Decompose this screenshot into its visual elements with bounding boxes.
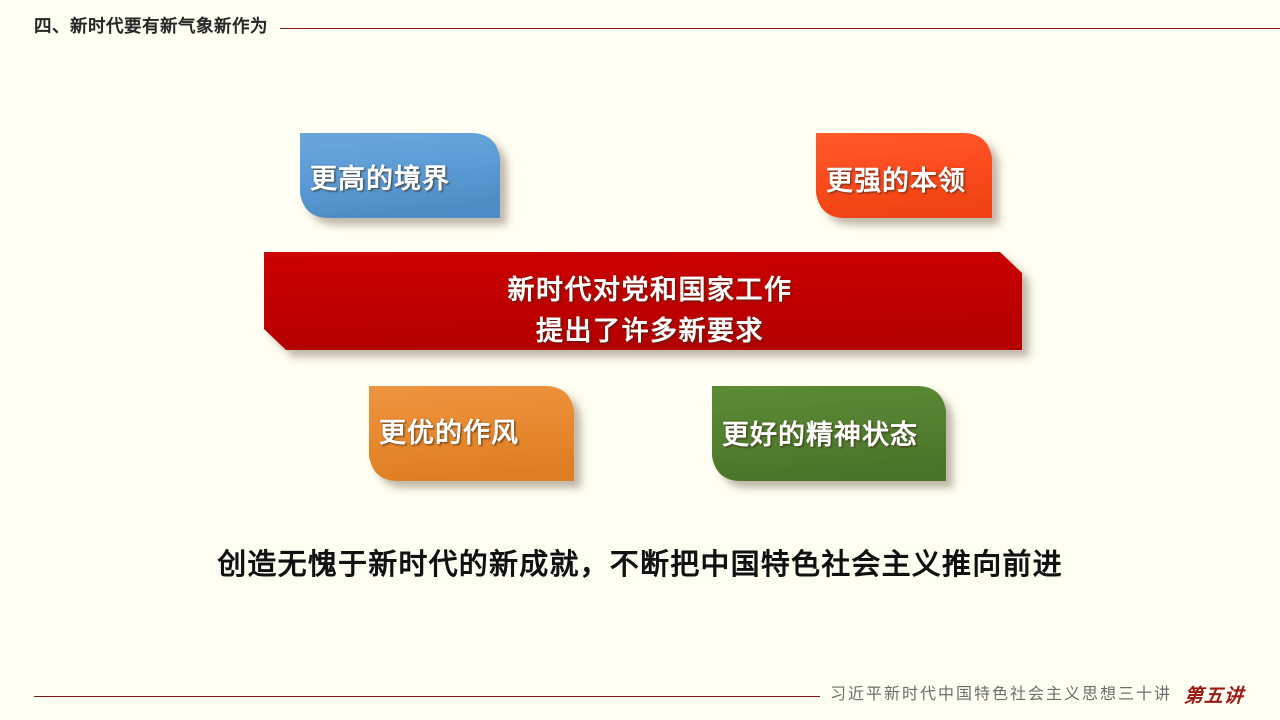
branch-shape-bottom-right [712,386,946,481]
branch-label-top-left: 更高的境界 [310,163,450,196]
branch-label-top-right: 更强的本领 [826,165,966,198]
branch-label-bottom-left: 更优的作风 [379,417,519,450]
footer-book-title: 习近平新时代中国特色社会主义思想三十讲 [830,687,1172,703]
center-label: 新时代对党和国家工作 提出了许多新要求 [265,270,1035,351]
diagram-canvas: 更高的境界 更强的本领 更优的作风 更好的精神状态 新时代对党和国家工作 提出了… [0,0,1280,720]
slide-caption: 创造无愧于新时代的新成就，不断把中国特色社会主义推向前进 [0,548,1280,583]
branch-shape-top-right [816,133,992,218]
slide-footer: 习近平新时代中国特色社会主义思想三十讲 第五讲 [34,676,1246,716]
slide-header: 四、新时代要有新气象新作为 [0,10,1280,44]
branch-shape-top-left [300,133,500,218]
header-divider [280,28,1280,29]
footer-lecture-number: 第五讲 [1183,687,1244,706]
slide-canvas: 四、新时代要有新气象新作为 [0,0,1280,720]
branch-label-bottom-right: 更好的精神状态 [722,419,918,452]
center-shape [264,252,1022,350]
footer-divider [34,696,820,697]
branch-shape-bottom-left [369,386,574,481]
diagram-svg [0,0,1280,720]
page-title: 四、新时代要有新气象新作为 [34,18,268,36]
center-label-line-2: 提出了许多新要求 [265,311,1035,352]
center-label-line-1: 新时代对党和国家工作 [265,270,1035,311]
